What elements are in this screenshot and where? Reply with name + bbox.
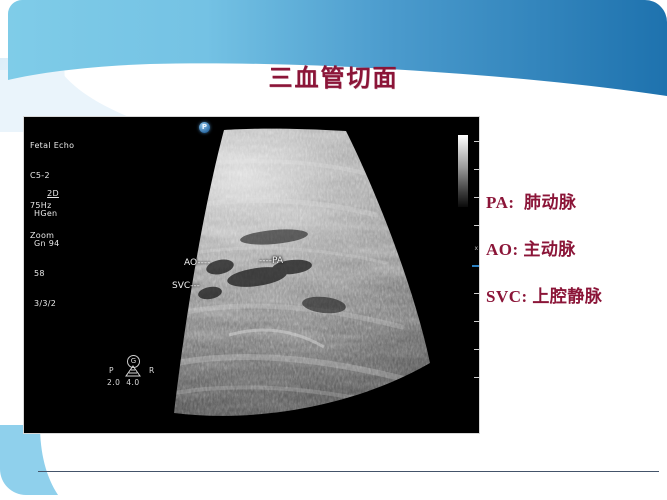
orientation-left-marker: P bbox=[109, 366, 114, 375]
overlay-gain-label: Gn 94 bbox=[34, 239, 60, 249]
legend-item-ao: AO: 主动脉 bbox=[486, 235, 602, 260]
presentation-slide: 三血管切面 bbox=[0, 0, 667, 500]
annotation-svc: SVC--- bbox=[172, 281, 200, 291]
acoustic-output-indicator: G P R 2.0 4.0 bbox=[105, 355, 169, 389]
mi-value: 2.0 bbox=[107, 378, 120, 387]
ultrasound-sector bbox=[24, 117, 479, 433]
orientation-right-marker: R bbox=[149, 366, 154, 375]
cursor-x-mark: x bbox=[474, 245, 478, 252]
footer-decoration bbox=[0, 425, 667, 500]
mi-tis-values: 2.0 4.0 bbox=[107, 378, 140, 387]
scanner-overlay-params: HGen Gn 94 58 3/3/2 bbox=[30, 189, 60, 329]
overlay-dynamic-range-label: 58 bbox=[34, 269, 60, 279]
depth-cursor-marker bbox=[472, 265, 479, 267]
slide-title: 三血管切面 bbox=[0, 58, 667, 93]
legend-item-pa: PA: 肺动脉 bbox=[486, 188, 602, 213]
annotation-ao: AO---- bbox=[184, 258, 210, 268]
probe-orientation-marker: P bbox=[199, 122, 210, 133]
overlay-exam-label: Fetal Echo bbox=[30, 141, 74, 151]
grayscale-map-bar bbox=[458, 135, 468, 207]
ultrasound-image: P Fetal Echo C5-2 75Hz Zoom 2D HGen Gn 9… bbox=[24, 117, 479, 433]
depth-ruler[interactable]: x bbox=[474, 117, 479, 433]
overlay-maps-label: 3/3/2 bbox=[34, 299, 60, 309]
abbreviation-legend: PA: 肺动脉 AO: 主动脉 SVC: 上腔静脉 bbox=[486, 188, 602, 329]
warning-triangle-icon bbox=[125, 365, 141, 377]
overlay-preset-label: HGen bbox=[34, 209, 60, 219]
legend-item-svc: SVC: 上腔静脉 bbox=[486, 282, 602, 307]
tis-value: 4.0 bbox=[126, 378, 139, 387]
footer-rule bbox=[38, 471, 659, 472]
annotation-pa: ----PA bbox=[259, 256, 283, 266]
